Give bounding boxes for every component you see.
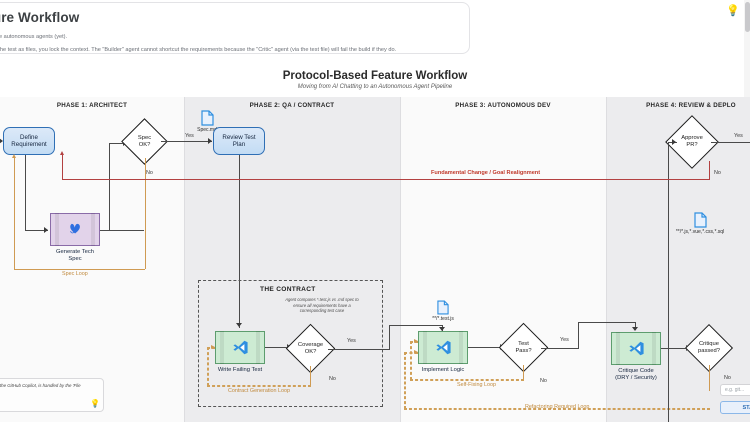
generate-tech-spec-line-2: Spec [56,256,94,263]
red-feedback-v-right [709,161,710,180]
spec-loop-v-right [145,158,146,269]
vscode-icon [628,340,645,357]
proc-bar-right [91,213,95,246]
proc-bar-right [652,332,656,365]
file-icon [694,212,701,228]
claude-icon [66,222,84,238]
file-icon [190,110,224,126]
node-generate-tech-spec[interactable] [50,213,100,246]
review-test-plan-line-1: Review Test [222,134,255,141]
spec-ok-line-2: OK? [138,142,151,149]
phase-label-3: PHASE 3: AUTONOMOUS DEV [400,102,606,109]
edge-entry-arrowhead [0,138,3,144]
node-implement-logic-caption: Implement Logic [422,367,465,374]
footer-note: ent VS Code environments, the GitHub Cop… [0,378,104,412]
edge-label-yes-spec: Yes [185,133,194,139]
red-feedback-v-left [62,155,63,180]
spec-loop-arrowhead [12,154,16,158]
edge-testpass-to-critique-h [578,322,636,323]
stage-button[interactable]: STAG [720,401,750,414]
edge-spec-to-specok-h [100,230,144,231]
node-define-requirement-label-2: Requirement [11,141,46,148]
proc-bar-left [423,331,427,364]
node-approve-pr-text: Approve PR? [673,123,711,161]
proc-bar-left [55,213,59,246]
proc-bar-left [616,332,620,365]
node-implement-logic[interactable] [418,331,468,364]
info-card: l Feature Workflow ly spawn separate aut… [0,2,470,54]
file-source-outputs-caption: **/*.js,*.vue,*.css,*.sql [659,229,741,235]
edge-testpass-yes-v [578,322,579,348]
file-test-js-caption: **/*.test.js [417,316,469,322]
selffix-loop-h [410,379,524,381]
file-test-js: **/*.test.js [443,300,444,322]
band-separator-2 [400,97,401,422]
node-write-failing-test[interactable] [215,331,265,364]
contract-loop-v-left [207,347,209,386]
node-spec-ok-decision[interactable]: Spec OK? [128,125,161,158]
phase-label-2: PHASE 2: QA / CONTRACT [184,102,400,109]
file-source-outputs: **/*.js,*.vue,*.css,*.sql [700,212,701,235]
footer-note-text: ent VS Code environments, the GitHub Cop… [0,383,87,397]
critique-passed-line-2: passed? [698,348,720,355]
edge-coverage-yes-h [328,349,390,350]
contract-loop-h [207,385,311,387]
spec-loop-v-left [14,158,15,269]
selffix-loop-v-right [523,365,524,379]
edge-label-no-critique: No [724,375,731,381]
node-test-pass-decision[interactable]: Test Pass? [506,330,541,365]
refactor-loop-arrowhead [414,350,418,354]
generate-tech-spec-line-1: Generate Tech [56,249,94,256]
test-pass-line-1: Test [515,341,531,348]
lightbulb-icon: 💡 [726,6,740,17]
node-define-requirement[interactable]: Define Requirement [3,127,55,155]
edge-specok-yes [161,141,212,142]
contract-loop-arrowhead [211,345,215,349]
node-critique-code-caption: Critique Code (DRY / Security) [615,368,657,382]
node-generate-tech-spec-caption: Generate Tech Spec [56,249,94,263]
vscode-icon [435,339,452,356]
refactor-loop-v-left [404,352,406,409]
proc-bar-right [459,331,463,364]
band-separator-1 [184,97,185,422]
edge-label-yes-test: Yes [560,337,569,343]
critique-code-line-1: Critique Code [615,368,657,375]
screen-root: l Feature Workflow ly spawn separate aut… [0,0,750,422]
edge-label-yes-pr: Yes [734,133,743,139]
info-card-line-1: ly spawn separate autonomous agents (yet… [0,34,457,40]
edge-coverage-to-implement-h [389,325,443,326]
node-critique-code[interactable] [611,332,661,365]
info-card-title: l Feature Workflow [0,10,457,25]
edge-label-yes-coverage: Yes [347,338,356,344]
edge-label-fundamental-change: Fundamental Change / Goal Realignment [431,170,540,176]
edge-spec-to-specok-v [109,143,110,230]
selffix-loop-arrowhead [414,339,418,343]
critique-code-line-2: (DRY / Security) [615,375,657,382]
contract-title: THE CONTRACT [260,286,316,293]
node-review-test-plan[interactable]: Review Test Plan [213,127,265,155]
node-write-failing-test-caption: Write Failing Test [218,367,262,374]
critique-passed-line-1: Critique [698,341,720,348]
review-test-plan-line-2: Plan [233,141,245,148]
node-approve-pr-decision[interactable]: Approve PR? [673,123,711,161]
scrollbar-thumb[interactable] [745,2,750,32]
edge-define-to-spec-v [25,155,26,230]
node-test-pass-text: Test Pass? [506,330,541,365]
node-define-requirement-label-1: Define [20,134,38,141]
vscode-icon [232,339,249,356]
band-separator-3 [606,97,607,422]
edge-testpass-yes-h [541,348,579,349]
contract-loop-v-right [310,366,311,386]
diagram-subtitle: Moving from AI Chatting to an Autonomous… [0,84,750,90]
loop-label-selffix: Self-Fixing Loop [457,382,496,388]
coverage-ok-line-2: OK? [298,349,323,356]
node-spec-ok-text: Spec OK? [128,125,161,158]
red-feedback-arrowhead [60,151,64,155]
coverage-ok-line-1: Coverage [298,342,323,349]
loop-label-contract: Contract Generation Loop [228,388,290,394]
edge-testpass-to-critique-arrowhead [632,327,638,331]
edge-label-no-coverage: No [329,376,336,382]
proc-bar-right [256,331,260,364]
edge-source-to-approvepr-arrowhead [672,139,676,145]
file-icon [437,300,444,315]
approve-pr-line-2: PR? [681,142,703,149]
node-critique-passed-decision[interactable]: Critique passed? [692,331,726,365]
test-pass-line-2: Pass? [515,348,531,355]
edge-label-no-spec: No [146,170,153,176]
loop-label-spec: Spec Loop [62,271,88,277]
loop-label-refactor: Refactoring Required Loop [525,404,589,410]
node-coverage-ok-decision[interactable]: Coverage OK? [293,331,328,366]
edge-define-to-spec-arrowhead [44,227,48,233]
phase-label-1: PHASE 1: ARCHITECT [0,102,184,109]
edge-specok-yes-arrowhead [208,138,212,144]
command-input[interactable]: e.g. git... [720,384,750,396]
red-feedback-h [62,179,710,180]
spec-ok-line-1: Spec [138,135,151,142]
edge-coverage-yes-v [389,325,390,349]
edge-source-to-approvepr-v [668,142,669,422]
edge-label-no-test: No [540,378,547,384]
node-coverage-ok-text: Coverage OK? [293,331,328,366]
contract-annotation: Agent compares *.test.js vs .md spec to … [281,297,363,314]
edge-label-no-pr: No [714,170,721,176]
selffix-loop-v-left [410,341,412,380]
proc-bar-left [220,331,224,364]
spec-loop-h [14,269,145,270]
phase-label-4: PHASE 4: REVIEW & DEPLO [606,102,750,109]
diagram-title: Protocol-Based Feature Workflow [0,70,750,82]
approve-pr-line-1: Approve [681,135,703,142]
refactor-loop-v-right [709,365,710,391]
node-critique-passed-text: Critique passed? [692,331,726,365]
edge-approvepr-yes [711,142,750,143]
info-card-line-2: ng the spec and the test as files, you l… [0,47,457,53]
lightbulb-icon: 💡 [90,399,100,408]
